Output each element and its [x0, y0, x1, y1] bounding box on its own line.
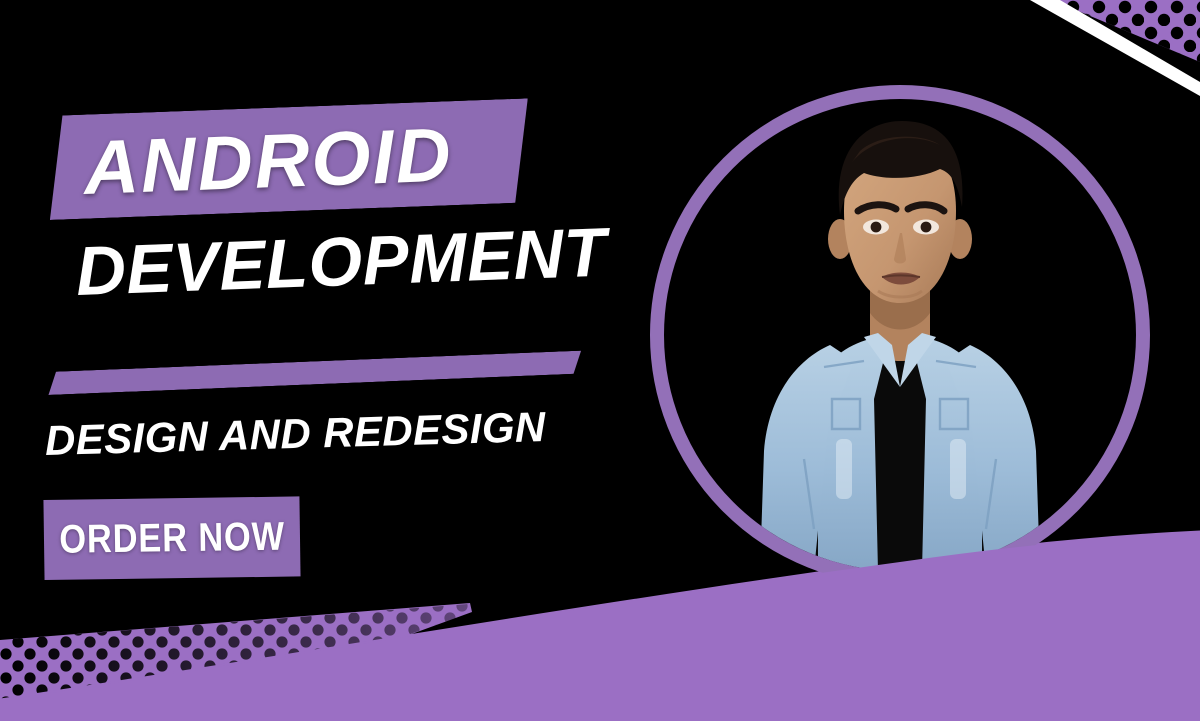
portrait-ring-border: [650, 85, 1150, 585]
order-now-button[interactable]: ORDER NOW: [43, 496, 300, 580]
promo-banner: ANDROID DEVELOPMENT DESIGN AND REDESIGN …: [0, 0, 1200, 721]
purple-divider-bar: [48, 351, 582, 395]
portrait-circle: [650, 85, 1150, 585]
headline-line-2: DEVELOPMENT: [74, 206, 677, 316]
text-content-block: ANDROID DEVELOPMENT DESIGN AND REDESIGN …: [0, 0, 660, 721]
order-now-label: ORDER NOW: [59, 514, 285, 562]
subtitle-text: DESIGN AND REDESIGN: [44, 400, 605, 466]
headline-line-1: ANDROID: [82, 107, 605, 212]
